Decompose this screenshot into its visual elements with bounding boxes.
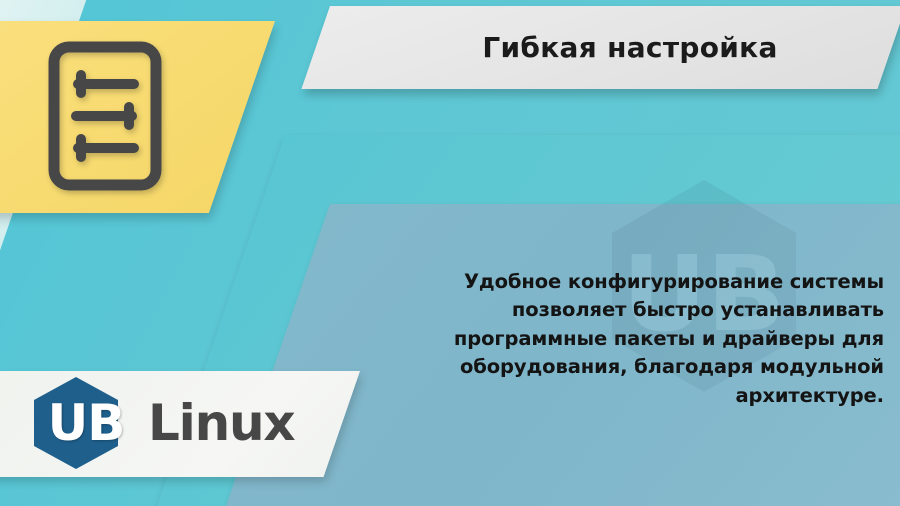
logo-mark-ub: UB [34, 377, 138, 469]
sliders-settings-icon [48, 41, 162, 191]
logo-wordmark: Linux [148, 398, 294, 448]
hexagon-icon: UB [34, 377, 118, 469]
body-paragraph: Удобное конфигурирование системы позволя… [414, 268, 884, 410]
brand-logo: UB Linux [34, 377, 294, 469]
page-title: Гибкая настройка [360, 6, 900, 89]
slide-canvas: UB Гибкая настройка Удобное конфигуриров… [0, 0, 900, 506]
